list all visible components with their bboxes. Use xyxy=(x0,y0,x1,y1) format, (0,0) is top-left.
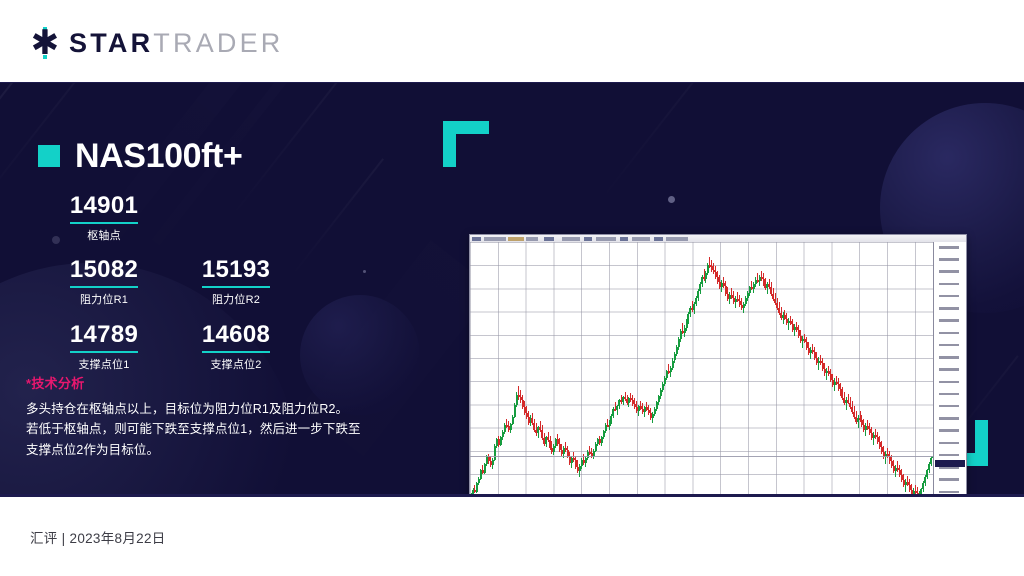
price-axis xyxy=(933,242,966,494)
candle-body xyxy=(512,417,514,424)
price-axis-tick xyxy=(939,344,959,347)
analysis-line-2: 若低于枢轴点，则可能下跌至支撑点位1，然后进一步下跌至 xyxy=(26,419,401,439)
instrument-title-row: NAS100ft+ xyxy=(38,139,242,173)
square-bullet-icon xyxy=(38,145,60,167)
candle-wick xyxy=(873,432,874,445)
price-axis-tick xyxy=(939,454,959,457)
hero-section: NAS100ft+ 14901 枢轴点 15082 阻力位R1 15193 xyxy=(0,83,1024,494)
level-support-1: 14789 支撑点位1 xyxy=(38,322,170,373)
corner-bracket-top-left xyxy=(443,121,456,167)
technical-analysis: *技术分析 多头持仓在枢轴点以上，目标位为阻力位R1及阻力位R2。 若低于枢轴点… xyxy=(26,373,401,460)
toolbar-control[interactable] xyxy=(472,237,481,241)
candle-wick xyxy=(834,378,835,391)
price-axis-tick xyxy=(939,491,959,494)
level-value: 14608 xyxy=(202,322,270,353)
level-resistance-2: 15193 阻力位R2 xyxy=(170,257,302,308)
pivot-levels: 14901 枢轴点 15082 阻力位R1 15193 阻力位R2 xyxy=(38,193,338,373)
price-axis-tick xyxy=(939,283,959,286)
footer-divider xyxy=(0,494,1024,497)
price-axis-tick xyxy=(939,270,959,273)
toolbar-control[interactable] xyxy=(596,237,616,241)
toolbar-control[interactable] xyxy=(544,237,554,241)
candle-wick xyxy=(865,423,866,436)
page-header: ✱ STARTRADER xyxy=(0,0,1024,83)
corner-bracket-bottom-right xyxy=(975,420,988,466)
last-price-line xyxy=(470,456,934,457)
toolbar-control[interactable] xyxy=(562,237,580,241)
price-axis-tick xyxy=(939,295,959,298)
level-label: 阻力位R1 xyxy=(38,292,170,309)
candle-wick xyxy=(846,397,847,410)
page-footer: 汇评 | 2023年8月22日 xyxy=(0,494,1024,576)
toolbar-control[interactable] xyxy=(526,237,538,241)
asterisk-star-icon: ✱ xyxy=(30,28,60,58)
support-row: 14789 支撑点位1 14608 支撑点位2 xyxy=(38,322,338,373)
price-axis-tick xyxy=(939,442,959,445)
analysis-line-3: 支撑点位2作为目标位。 xyxy=(26,440,401,460)
poster-root: ✱ STARTRADER xyxy=(0,0,1024,576)
level-pivot: 14901 枢轴点 xyxy=(38,193,170,244)
toolbar-control[interactable] xyxy=(508,237,524,241)
price-axis-tick xyxy=(939,258,959,261)
price-chart[interactable] xyxy=(469,234,967,494)
candle-wick xyxy=(802,336,803,348)
level-value: 14789 xyxy=(70,322,138,353)
brand-wordmark: STARTRADER xyxy=(69,30,284,57)
level-value: 15193 xyxy=(202,257,270,288)
price-axis-tick xyxy=(939,417,959,420)
price-axis-tick xyxy=(939,405,959,408)
level-label: 枢轴点 xyxy=(38,228,170,245)
chart-plot-area[interactable] xyxy=(470,242,934,494)
info-column: NAS100ft+ 14901 枢轴点 15082 阻力位R1 15193 xyxy=(0,83,430,494)
candle-wick xyxy=(818,357,819,370)
price-axis-tick xyxy=(939,381,959,384)
price-axis-tick xyxy=(939,356,959,359)
last-price-tag xyxy=(935,460,965,467)
price-axis-tick xyxy=(939,319,959,322)
toolbar-control[interactable] xyxy=(666,237,688,241)
toolbar-control[interactable] xyxy=(584,237,592,241)
level-label: 阻力位R2 xyxy=(170,292,302,309)
toolbar-control[interactable] xyxy=(620,237,628,241)
price-axis-tick xyxy=(939,429,959,432)
analysis-line-1: 多头持仓在枢轴点以上，目标位为阻力位R1及阻力位R2。 xyxy=(26,399,401,419)
level-resistance-1: 15082 阻力位R1 xyxy=(38,257,170,308)
logo-accent-square-bottom xyxy=(43,55,47,59)
price-axis-tick xyxy=(939,307,959,310)
price-axis-tick xyxy=(939,478,959,481)
price-axis-tick xyxy=(939,393,959,396)
price-axis-tick xyxy=(939,368,959,371)
toolbar-control[interactable] xyxy=(654,237,663,241)
candle-wick xyxy=(788,318,789,330)
level-support-2: 14608 支撑点位2 xyxy=(170,322,302,373)
candle-wick xyxy=(895,465,896,478)
price-axis-tick xyxy=(939,332,959,335)
page-title: NAS100ft+ xyxy=(75,139,242,173)
candle-wick xyxy=(905,479,906,492)
footer-caption: 汇评 | 2023年8月22日 xyxy=(30,527,166,547)
brand-name-bold: STAR xyxy=(69,28,153,58)
analysis-heading: *技术分析 xyxy=(26,373,401,392)
level-value: 15082 xyxy=(70,257,138,288)
asterisk-glyph: ✱ xyxy=(30,28,60,58)
level-label: 支撑点位2 xyxy=(170,357,302,374)
level-label: 支撑点位1 xyxy=(38,357,170,374)
toolbar-control[interactable] xyxy=(484,237,506,241)
pivot-row: 14901 枢轴点 xyxy=(38,193,338,244)
toolbar-control[interactable] xyxy=(632,237,650,241)
brand-name-light: TRADER xyxy=(153,28,283,58)
level-value: 14901 xyxy=(70,193,138,224)
chart-frame xyxy=(443,121,988,466)
resistance-row: 15082 阻力位R1 15193 阻力位R2 xyxy=(38,257,338,308)
price-axis-tick xyxy=(939,246,959,249)
brand-logo[interactable]: ✱ STARTRADER xyxy=(30,28,284,58)
